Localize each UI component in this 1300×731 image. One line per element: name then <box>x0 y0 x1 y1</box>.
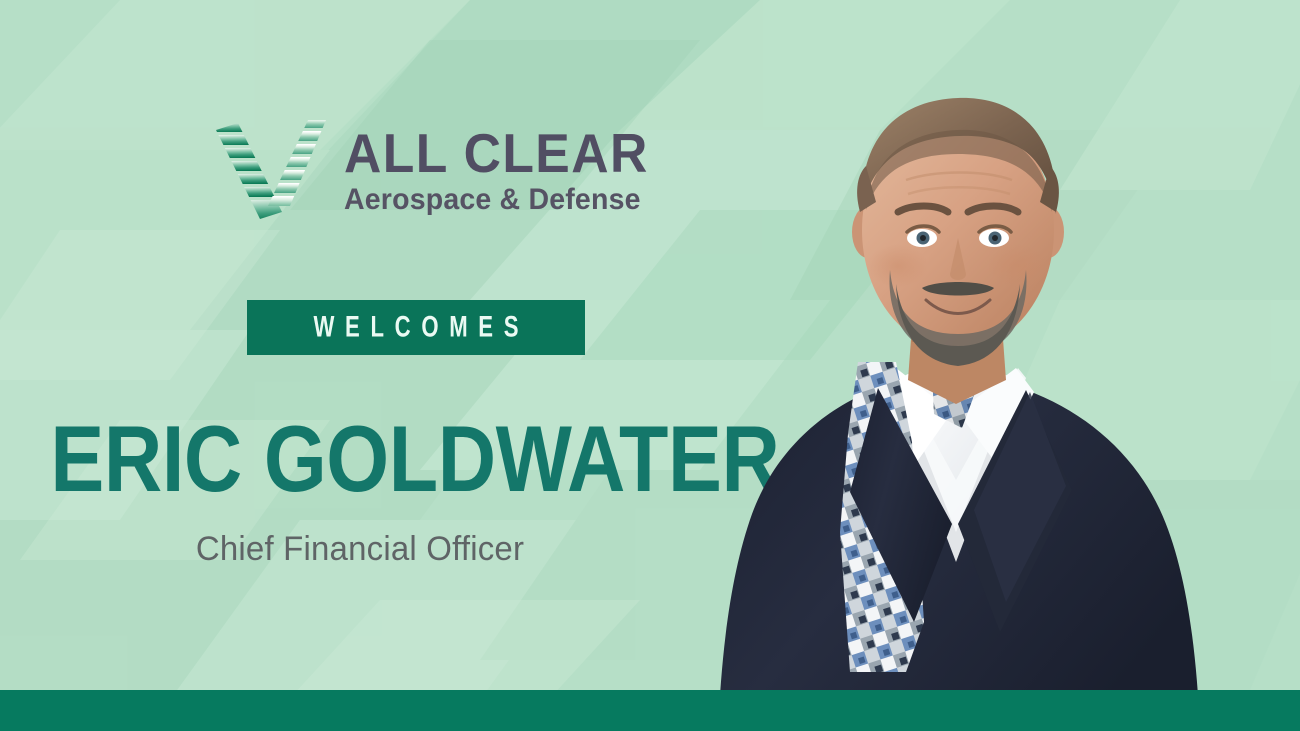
brand-title: ALL CLEAR <box>344 127 649 181</box>
brand-subtitle: Aerospace & Defense <box>344 183 652 217</box>
portrait-photo <box>700 62 1220 731</box>
person-title: Chief Financial Officer <box>11 530 709 569</box>
announcement-content: ALL CLEAR Aerospace & Defense WELCOMES E… <box>0 0 720 690</box>
brand-wordmark: ALL CLEAR Aerospace & Defense <box>344 127 668 216</box>
person-name: ERIC GOLDWATER <box>50 412 669 506</box>
welcomes-banner: WELCOMES <box>247 300 585 355</box>
welcome-announcement-graphic: ALL CLEAR Aerospace & Defense WELCOMES E… <box>0 0 1300 731</box>
bottom-accent-bar <box>0 690 1300 731</box>
brand-logo-lockup: ALL CLEAR Aerospace & Defense <box>212 118 668 222</box>
welcomes-label: WELCOMES <box>303 311 529 344</box>
allclear-v-chevron-logo-icon <box>212 118 330 222</box>
